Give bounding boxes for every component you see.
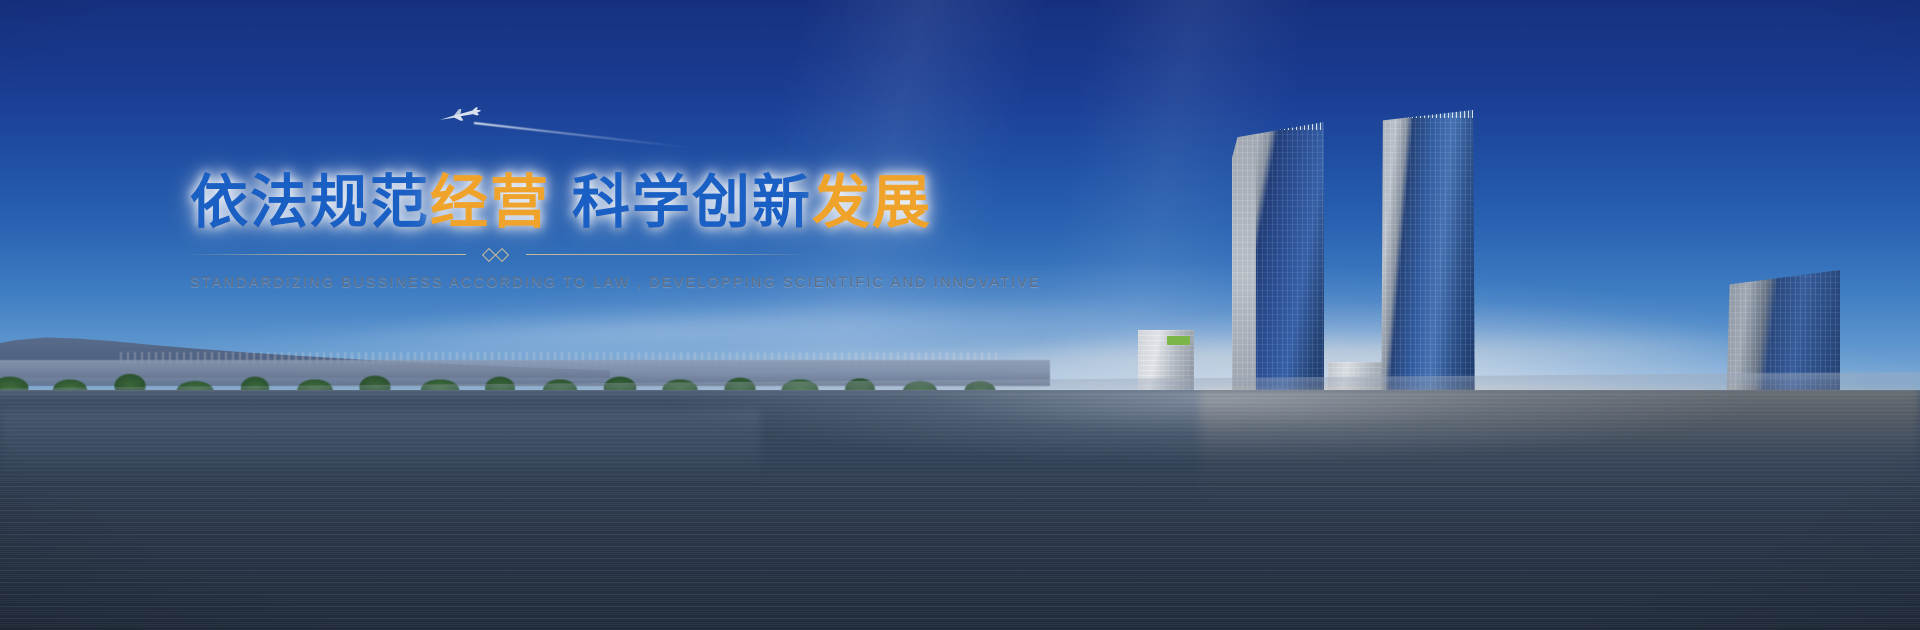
airplane-icon [438, 102, 698, 142]
banner-text-block: 依法规范经营科学创新发展 STANDARDIZING BUSSINESS ACC… [190, 172, 830, 291]
tower-crown-right [1380, 94, 1476, 118]
divider-line-left [190, 254, 466, 255]
hero-banner: 依法规范经营科学创新发展 STANDARDIZING BUSSINESS ACC… [0, 0, 1920, 630]
rooftop-sign [1167, 336, 1189, 345]
headline-segment-gold-2: 发展 [812, 170, 932, 235]
headline-segment-blue-1: 依法规范 [190, 170, 430, 235]
headline-segment-blue-2: 科学创新 [572, 170, 812, 235]
headline-segment-gold-1: 经营 [430, 170, 550, 235]
diamond-ornament-icon [475, 249, 517, 261]
banner-headline: 依法规范经营科学创新发展 [190, 172, 830, 235]
banner-subheadline: STANDARDIZING BUSSINESS ACCORDING TO LAW… [190, 275, 830, 291]
water-ripples-near [0, 480, 1920, 630]
tower-crown-left [1232, 108, 1324, 130]
divider-line-right [526, 254, 802, 255]
decorative-divider [190, 249, 802, 261]
